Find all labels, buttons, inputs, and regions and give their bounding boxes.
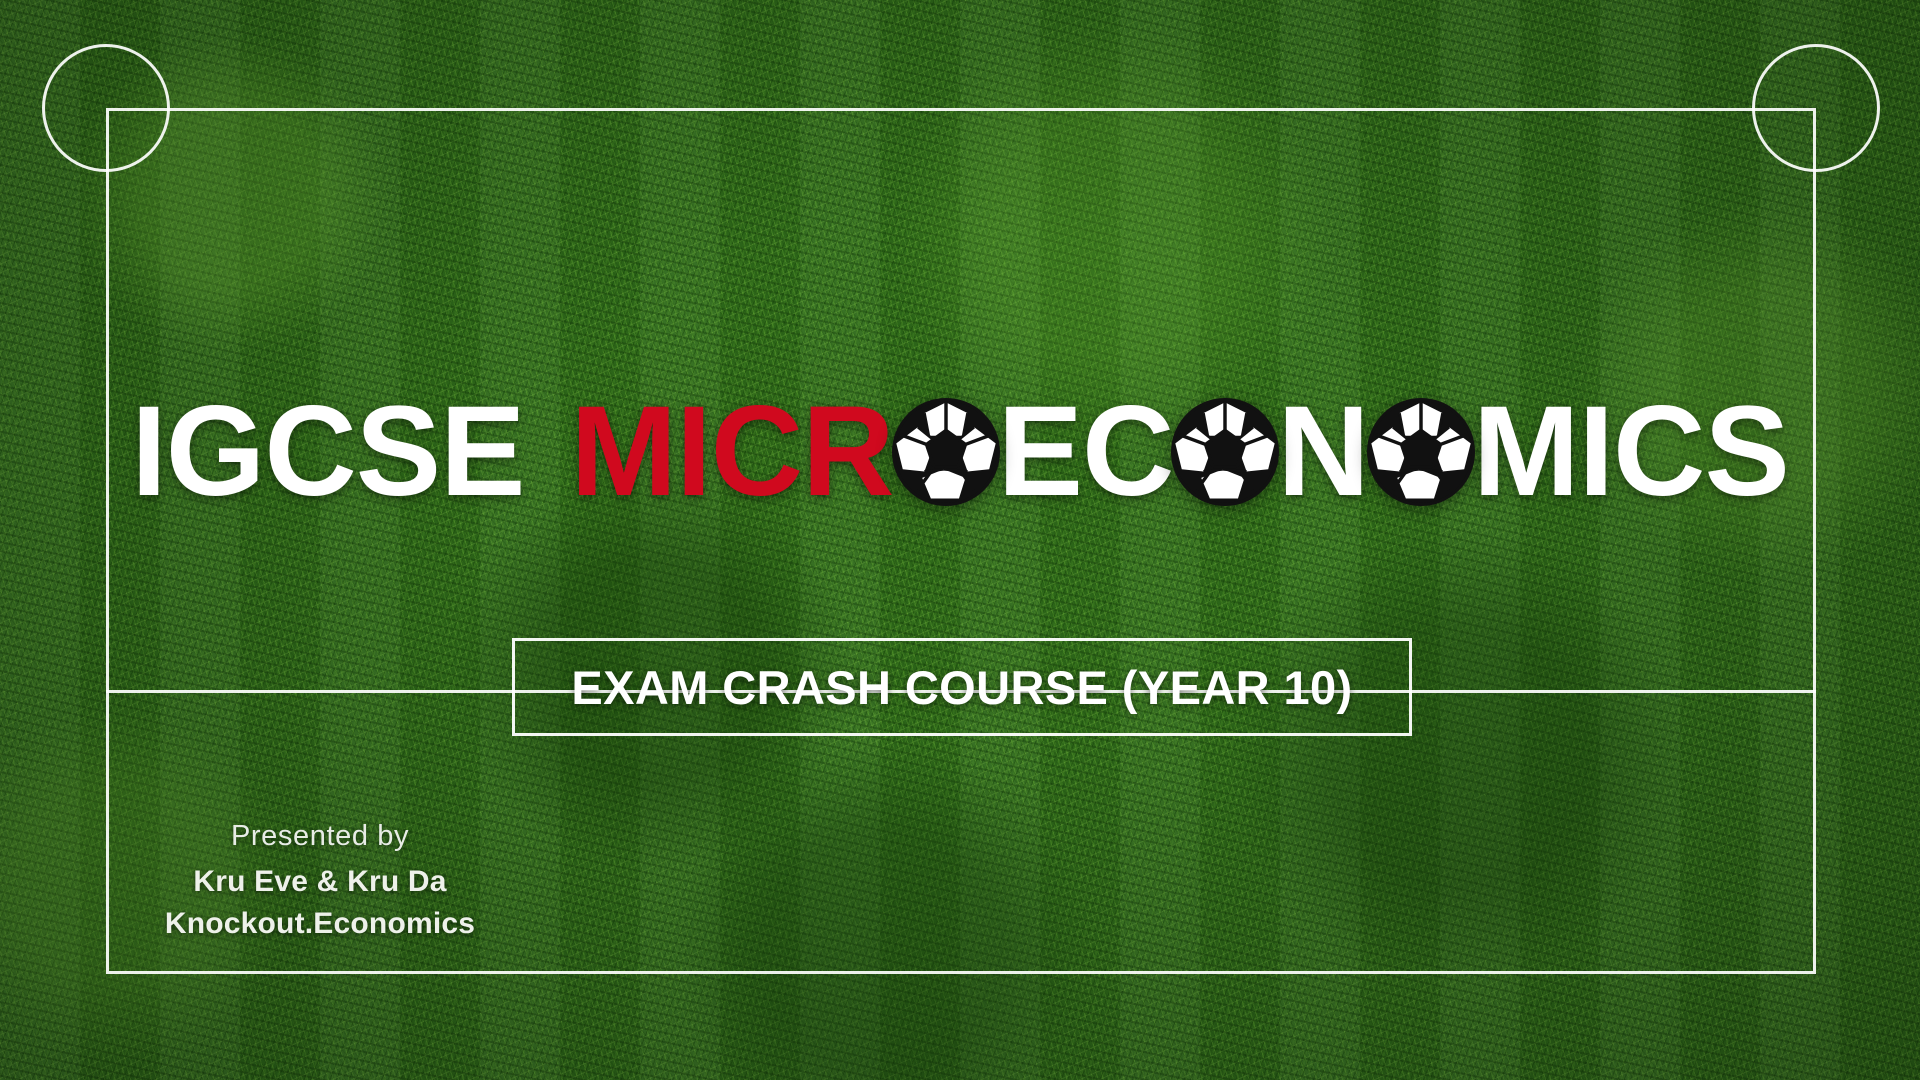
title-part-mics: MICS <box>1473 388 1789 516</box>
subtitle-text: EXAM CRASH COURSE (YEAR 10) <box>571 660 1352 715</box>
presenter-block: Presented by Kru Eve & Kru Da Knockout.E… <box>120 820 520 941</box>
subtitle-box: EXAM CRASH COURSE (YEAR 10) <box>512 638 1412 736</box>
main-title: IGCSE MICR EC N MICS <box>0 388 1920 516</box>
title-part-igcse: IGCSE <box>131 388 524 516</box>
presenter-brand: Knockout.Economics <box>120 907 520 941</box>
title-part-ec: EC <box>998 388 1174 516</box>
soccer-ball-icon <box>1367 398 1475 506</box>
soccer-ball-icon <box>1171 398 1279 506</box>
title-part-n: N <box>1277 388 1368 516</box>
soccer-ball-icon <box>892 398 1000 506</box>
presented-by-label: Presented by <box>120 820 520 853</box>
title-part-micr: MICR <box>571 388 894 516</box>
presenter-names: Kru Eve & Kru Da <box>120 865 520 899</box>
title-slide: IGCSE MICR EC N MICS EXAM CRASH COURSE (… <box>0 0 1920 1080</box>
